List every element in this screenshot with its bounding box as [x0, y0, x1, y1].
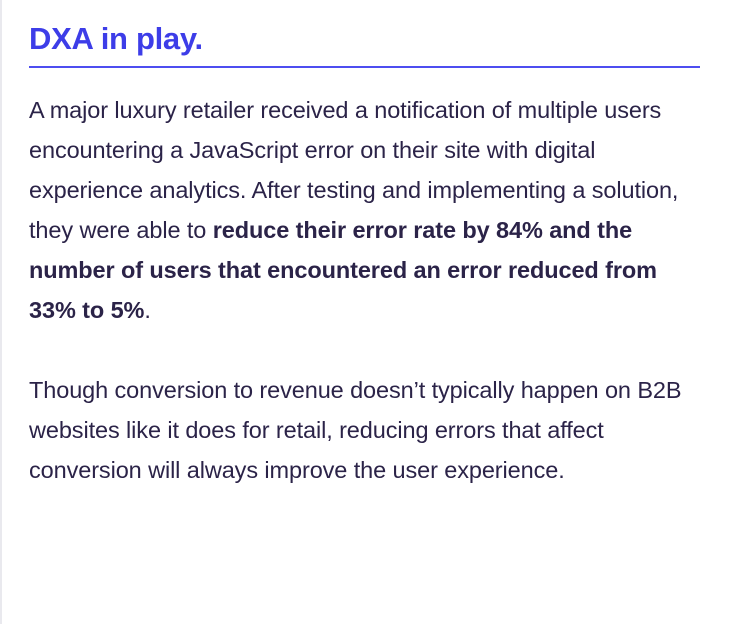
page-title: DXA in play.: [29, 0, 700, 59]
body-copy-container: A major luxury retailer received a notif…: [29, 68, 700, 490]
paragraph-1: A major luxury retailer received a notif…: [29, 90, 700, 330]
paragraph-2: Though conversion to revenue doesn’t typ…: [29, 370, 700, 490]
slide-content-panel: DXA in play. A major luxury retailer rec…: [0, 0, 750, 624]
body-text-run: Though conversion to revenue doesn’t typ…: [29, 377, 681, 483]
body-text-run: .: [144, 297, 150, 323]
